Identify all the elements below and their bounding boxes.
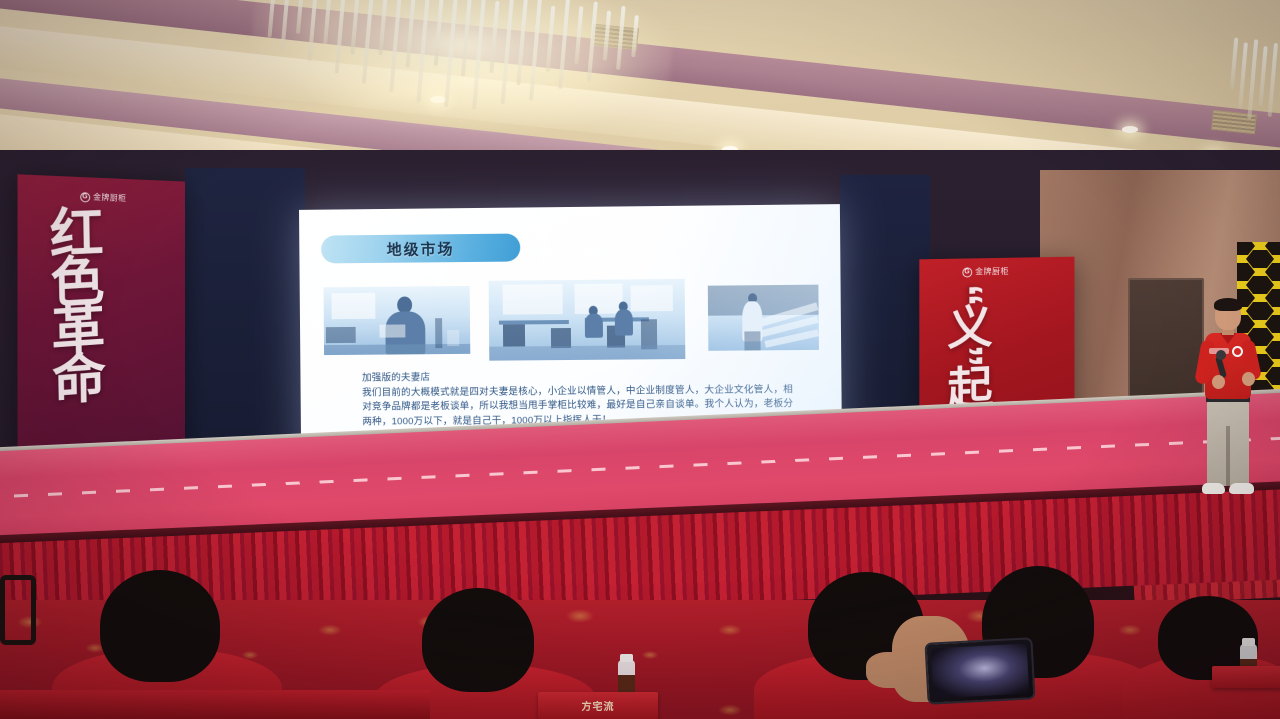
speaker-logo-badge xyxy=(1232,346,1243,357)
slide-photo-open-office xyxy=(489,279,686,361)
conference-hall-scene: G 金牌厨柜 红色革命 G 金牌厨柜 “义”起拼 地级市场 xyxy=(0,0,1280,719)
table-name-card-text: 方宅流 xyxy=(582,698,615,713)
banner-left-logo-text: 金牌厨柜 xyxy=(93,192,126,204)
banner-right-logo: G 金牌厨柜 xyxy=(962,266,1009,278)
audience-table xyxy=(0,690,430,719)
table-name-card: 方宅流 xyxy=(538,692,658,719)
speaker-shoe-right xyxy=(1229,483,1254,494)
bottle-cap xyxy=(1242,638,1255,646)
chair-back xyxy=(0,575,36,645)
slide-photo-woman-walking xyxy=(708,285,819,351)
smartphone-recording[interactable] xyxy=(924,637,1035,705)
speaker-shoe-left xyxy=(1202,483,1225,494)
logo-g-icon: G xyxy=(80,192,90,202)
crystal-chandelier-secondary xyxy=(1220,37,1280,163)
banner-left-headline: 红色革命 xyxy=(44,204,99,401)
audience-member xyxy=(1132,596,1280,719)
bottle-cap xyxy=(620,654,633,662)
slide-body-lead: 加强版的夫妻店 xyxy=(362,368,802,386)
phone-screen xyxy=(931,644,1029,699)
slide-title-banner: 地级市场 xyxy=(321,234,520,264)
logo-g-icon: G xyxy=(962,267,972,277)
banner-right-logo-text: 金牌厨柜 xyxy=(975,266,1009,278)
slide-title-text: 地级市场 xyxy=(387,238,455,260)
table-name-card xyxy=(1212,666,1280,688)
speaker-presenter xyxy=(1196,300,1260,505)
ceiling-downlight xyxy=(1122,126,1138,133)
slide-photo-man-reading xyxy=(323,286,470,355)
banner-left-logo: G 金牌厨柜 xyxy=(80,191,126,204)
slide-photo-strip xyxy=(323,278,819,362)
